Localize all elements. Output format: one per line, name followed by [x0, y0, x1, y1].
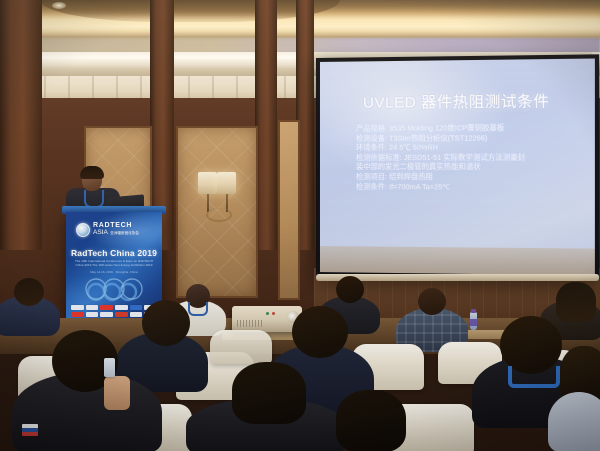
- wood-column: [255, 0, 277, 250]
- slide-line: 检测设备: T3Ster热阻分析仪(TST12266): [356, 133, 525, 143]
- wall-panel-narrow: [278, 120, 300, 300]
- slide-body: 产品规格: 3535 Molding 120度ICP覆铜胶基板 检测设备: T3…: [356, 123, 525, 192]
- sconce-shade: [217, 172, 236, 194]
- screen-lower-shadow: [320, 246, 595, 275]
- speaker-hair: [80, 166, 104, 179]
- sconce-shade: [198, 172, 217, 194]
- slide-surface: UVLED 器件热阻测试条件 产品规格: 3535 Molding 120度IC…: [320, 58, 595, 275]
- flag-badge: [22, 424, 38, 436]
- projector-vent: [237, 320, 263, 327]
- sponsor-logo-row: [71, 305, 157, 310]
- water-bottle: [470, 312, 477, 330]
- slide-line: 产品规格: 3535 Molding 120度ICP覆铜胶基板: [356, 123, 525, 134]
- wood-column: [0, 0, 42, 250]
- smartphone: [104, 358, 115, 377]
- slide-line: 检测依据标准: JESD51-51 实际数学测试方法测量封: [356, 152, 525, 162]
- podium: RADTECH ASIA 亚洲辐射固化协会 RadTech China 2019…: [66, 212, 162, 320]
- podium-date: May 14-16, 2019 · Shanghai, China: [72, 270, 156, 274]
- podium-rings-graphic: [82, 276, 146, 304]
- logo-asia: ASIA 亚洲辐射固化协会: [93, 230, 139, 237]
- chair: [210, 330, 272, 364]
- podium-subtitle: The 19th International Conference & Expo…: [72, 259, 156, 268]
- wall-sconce: [198, 172, 242, 228]
- slide-line: 装中部的发光二极管的真实热能和温状: [356, 162, 525, 172]
- globe-icon: [76, 223, 90, 237]
- slide-line: 检测项目: 结到焊盘热阻: [356, 172, 525, 182]
- slide-line: 环境条件: 24.5℃ 50%RH: [356, 143, 525, 153]
- conference-room-photo: UVLED 器件热阻测试条件 产品规格: 3535 Molding 120度IC…: [0, 0, 600, 451]
- slide-title: UVLED 器件热阻测试条件: [320, 89, 595, 112]
- podium-heading: RadTech China 2019: [66, 248, 162, 258]
- radtech-logo: RADTECH ASIA 亚洲辐射固化协会: [76, 222, 152, 237]
- projection-screen: UVLED 器件热阻测试条件 产品规格: 3535 Molding 120度IC…: [316, 54, 599, 279]
- slide-line: 检测条件: If=700mA Ta=25℃: [356, 182, 525, 192]
- ceiling-downlight: [52, 2, 66, 9]
- hand: [104, 376, 130, 410]
